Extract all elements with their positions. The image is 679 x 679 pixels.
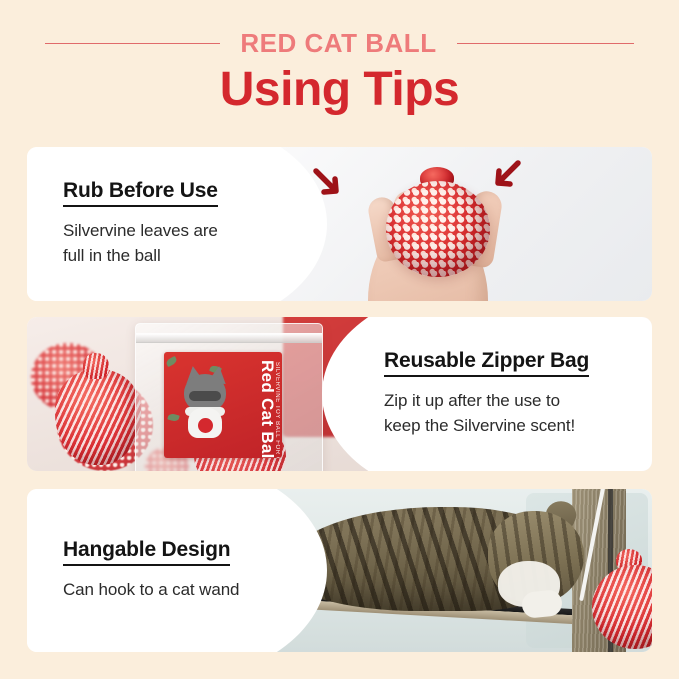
page-header: RED CAT BALL Using Tips — [0, 0, 679, 136]
tip-image-cat-with-ball — [272, 489, 652, 652]
photo-backdrop — [272, 489, 652, 652]
package-subtitle-label: SILVERVINE TOY BALL FOR CAT — [274, 362, 280, 458]
tip-text-panel: Rub Before Use Silvervine leaves are ful… — [27, 147, 327, 301]
tip-body-line: Zip it up after the use to — [384, 391, 560, 410]
eyebrow-row: RED CAT BALL — [0, 26, 679, 60]
tip-card-reusable-zipper-bag: Red Cat Ball — [27, 317, 652, 471]
divider-line-left — [45, 43, 220, 44]
tip-card-rub-before-use: Rub Before Use Silvervine leaves are ful… — [27, 147, 652, 301]
tip-body: Can hook to a cat wand — [63, 578, 313, 603]
tip-title: Reusable Zipper Bag — [384, 349, 589, 377]
tip-body-line: full in the ball — [63, 246, 161, 265]
cat-mascot-icon — [176, 364, 234, 440]
red-cat-ball — [55, 369, 141, 465]
brand-eyebrow: RED CAT BALL — [240, 30, 436, 56]
divider-line-right — [457, 43, 634, 44]
page-title: Using Tips — [0, 62, 679, 117]
tip-text-panel: Reusable Zipper Bag Zip it up after the … — [322, 317, 652, 471]
zipper-strip — [136, 333, 322, 343]
cat-eye-mask-icon — [189, 391, 221, 401]
tip-body-line: Can hook to a cat wand — [63, 580, 239, 599]
tip-body-line: Silvervine leaves are — [63, 221, 218, 240]
cat-held-ball-icon — [198, 418, 213, 433]
tip-body-line: keep the Silvervine scent! — [384, 416, 575, 435]
tip-image-hand-holding-ball — [272, 147, 652, 301]
zipper-bag: Red Cat Ball SILVERVINE TOY BALL FOR CAT — [135, 323, 323, 471]
arrow-down-left-icon — [484, 155, 524, 195]
tip-body: Zip it up after the use to keep the Silv… — [384, 389, 634, 438]
tip-body: Silvervine leaves are full in the ball — [63, 219, 313, 268]
tip-title: Hangable Design — [63, 538, 230, 566]
photo-backdrop — [272, 147, 652, 301]
tip-card-hangable-design: Hangable Design Can hook to a cat wand — [27, 489, 652, 652]
tip-title: Rub Before Use — [63, 179, 218, 207]
red-cat-ball — [386, 181, 490, 277]
tip-text-panel: Hangable Design Can hook to a cat wand — [27, 489, 327, 652]
package-label: Red Cat Ball SILVERVINE TOY BALL FOR CAT — [164, 352, 282, 458]
